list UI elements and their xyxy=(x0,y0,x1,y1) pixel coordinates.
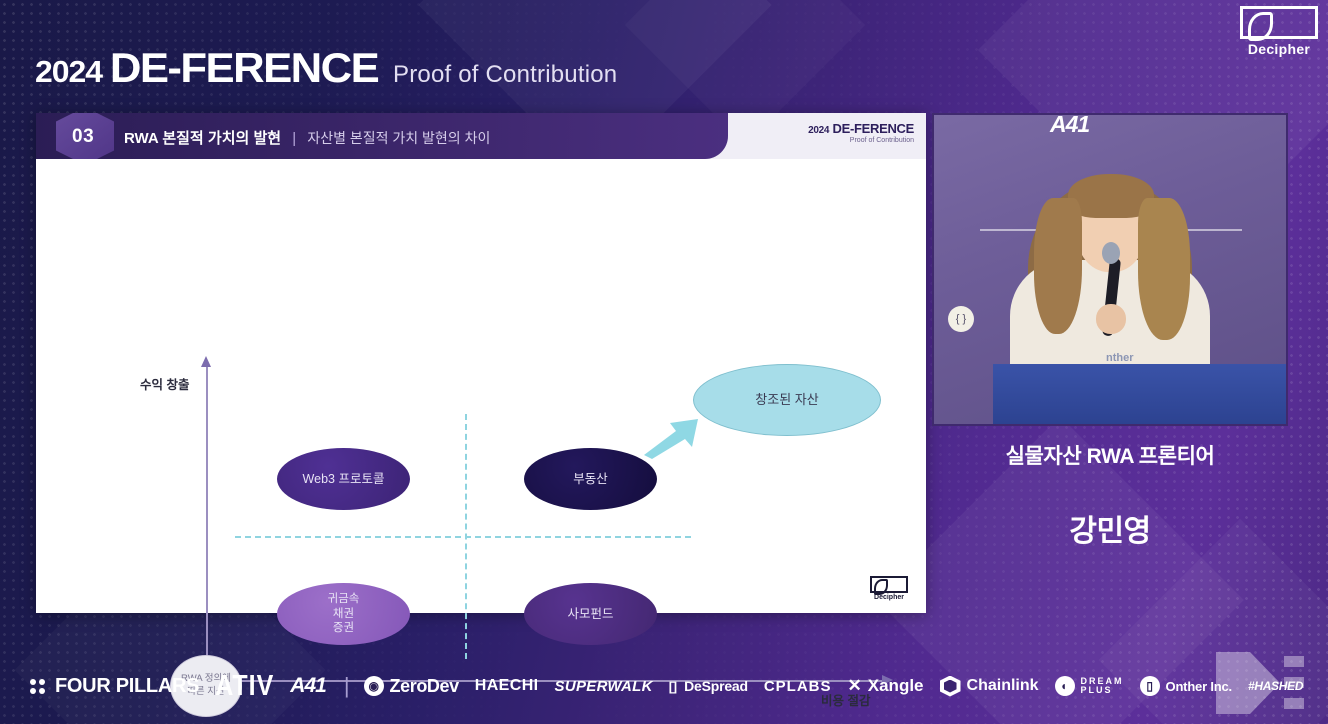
sponsor-cplabs: CPLABS xyxy=(764,678,832,695)
microphone-head-icon xyxy=(1102,242,1120,264)
sponsor-label: #HASHED xyxy=(1248,679,1303,693)
y-axis-line xyxy=(206,366,208,681)
sponsor-divider: | xyxy=(344,673,350,699)
sponsor-xangle: ✕ Xangle xyxy=(848,676,924,696)
speaker-hair-left xyxy=(1034,198,1082,334)
hexagon-icon xyxy=(940,676,961,697)
sponsor-label: ATIV xyxy=(215,669,274,702)
sponsor-label: A41 xyxy=(290,674,326,698)
masthead-year: 2024 xyxy=(35,54,102,90)
sponsor-superwalk: SUPERWALK xyxy=(555,678,653,695)
hoodie-text: nther xyxy=(1106,352,1134,364)
sponsor-hashed: #HASHED xyxy=(1248,679,1303,693)
slide-brand-year: 2024 xyxy=(808,125,829,136)
sponsor-onther: ▯ Onther Inc. xyxy=(1140,676,1232,696)
speaker-figure: nther xyxy=(1010,154,1210,390)
event-masthead: 2024 DE-FERENCE Proof of Contribution xyxy=(36,44,617,92)
sponsor-label: FOUR PILLARS xyxy=(55,675,199,698)
sponsor-label: HAECHI xyxy=(475,677,539,695)
growth-arrow-icon xyxy=(642,417,708,459)
bubble-line-2: 채권 xyxy=(328,607,360,622)
decipher-wordmark: Decipher xyxy=(1248,41,1310,57)
slide-section-number: 03 xyxy=(72,126,94,148)
speaker-info: 실물자산 RWA 프론티어 강민영 xyxy=(932,440,1288,550)
sponsor-label: Onther Inc. xyxy=(1166,679,1232,694)
sponsor-label: Chainlink xyxy=(967,677,1039,695)
y-axis-label: 수익 창출 xyxy=(140,374,189,393)
bubble-web3-protocol: Web3 프로토콜 xyxy=(277,448,410,510)
sponsor-bar: FOUR PILLARS ATIV A41 | ◉ ZeroDev HAECHI… xyxy=(0,648,1328,724)
sponsor-label: CPLABS xyxy=(764,678,832,695)
sponsor-label: Xangle xyxy=(868,676,924,696)
sponsor-a41: A41 xyxy=(290,674,326,698)
speaker-hair-right xyxy=(1138,198,1190,340)
slide-footer-logo: Decipher xyxy=(870,576,908,601)
bubble-created-asset: 창조된 자산 xyxy=(693,364,881,436)
slide-title-group: RWA 본질적 가치의 발현 | 자산별 본질적 가치 발현의 차이 xyxy=(124,127,490,148)
masthead-brand: DE-FERENCE xyxy=(110,44,378,92)
dreamplus-icon: ◖ xyxy=(1055,676,1075,696)
decipher-mark-icon xyxy=(870,576,908,593)
sponsor-label: ZeroDev xyxy=(390,676,459,697)
bubble-real-estate: 부동산 xyxy=(524,448,657,510)
x-icon: ✕ xyxy=(848,676,862,696)
decipher-mark-icon xyxy=(1240,6,1318,39)
sponsor-label: DeSpread xyxy=(684,678,748,694)
speaker-hand xyxy=(1096,304,1126,334)
sponsor-ativ: ATIV xyxy=(215,669,274,702)
bubble-precious-metals-bonds-securities: 귀금속 채권 증권 xyxy=(277,583,410,645)
sponsor-label-block: DREAM PLUS xyxy=(1081,677,1124,696)
backdrop-a41-logo: A41 xyxy=(1050,113,1089,138)
slide-brand-line: 2024 DE-FERENCE xyxy=(808,121,914,136)
speaker-name: 강민영 xyxy=(932,506,1288,550)
sponsor-label-line-2: PLUS xyxy=(1081,686,1124,695)
four-dots-icon xyxy=(30,679,45,694)
sponsor-dreamplus: ◖ DREAM PLUS xyxy=(1055,676,1124,696)
slide-title-separator: | xyxy=(292,130,296,147)
slide-title: RWA 본질적 가치의 발현 xyxy=(124,130,281,147)
slide-header: 03 RWA 본질적 가치의 발현 | 자산별 본질적 가치 발현의 차이 20… xyxy=(36,113,926,159)
session-title: 실물자산 RWA 프론티어 xyxy=(932,440,1288,470)
decipher-wordmark: Decipher xyxy=(874,594,904,601)
sponsor-haechi: HAECHI xyxy=(475,677,539,695)
sponsor-zerodev: ◉ ZeroDev xyxy=(364,676,459,697)
bubble-line-1: 귀금속 xyxy=(328,592,360,607)
bubble-private-equity-fund: 사모펀드 xyxy=(524,583,657,645)
backdrop-badge-icon: { } xyxy=(948,306,974,332)
onther-circle-icon: ▯ xyxy=(1140,676,1160,696)
zerodev-circle-icon: ◉ xyxy=(364,676,384,696)
sponsor-chainlink: Chainlink xyxy=(940,676,1039,697)
presentation-slide: 03 RWA 본질적 가치의 발현 | 자산별 본질적 가치 발현의 차이 20… xyxy=(36,113,926,613)
bubble-line-3: 증권 xyxy=(328,621,360,636)
slide-subtitle: 자산별 본질적 가치 발현의 차이 xyxy=(307,130,490,146)
masthead-tagline: Proof of Contribution xyxy=(393,61,617,89)
speaker-video-panel[interactable]: A41 { } nther xyxy=(932,113,1288,426)
decipher-logo: Decipher xyxy=(1240,6,1318,57)
slide-brand-name: DE-FERENCE xyxy=(832,121,914,136)
slide-brand-tagline: Proof of Contribution xyxy=(808,137,914,144)
bracket-icon: [ ] xyxy=(669,679,675,694)
slide-header-brand: 2024 DE-FERENCE Proof of Contribution xyxy=(808,121,914,144)
y-axis-arrow-icon xyxy=(201,356,211,367)
quadrant-divider-horizontal xyxy=(235,536,691,538)
podium xyxy=(993,364,1288,426)
quadrant-chart: 수익 창출 비용 절감 Web3 프로토콜 부동산 귀금속 채권 증권 사모펀드… xyxy=(36,159,926,613)
sponsor-label: SUPERWALK xyxy=(555,678,653,695)
sponsor-four-pillars: FOUR PILLARS xyxy=(30,675,199,698)
sponsor-despread: [ ] DeSpread xyxy=(669,678,748,694)
